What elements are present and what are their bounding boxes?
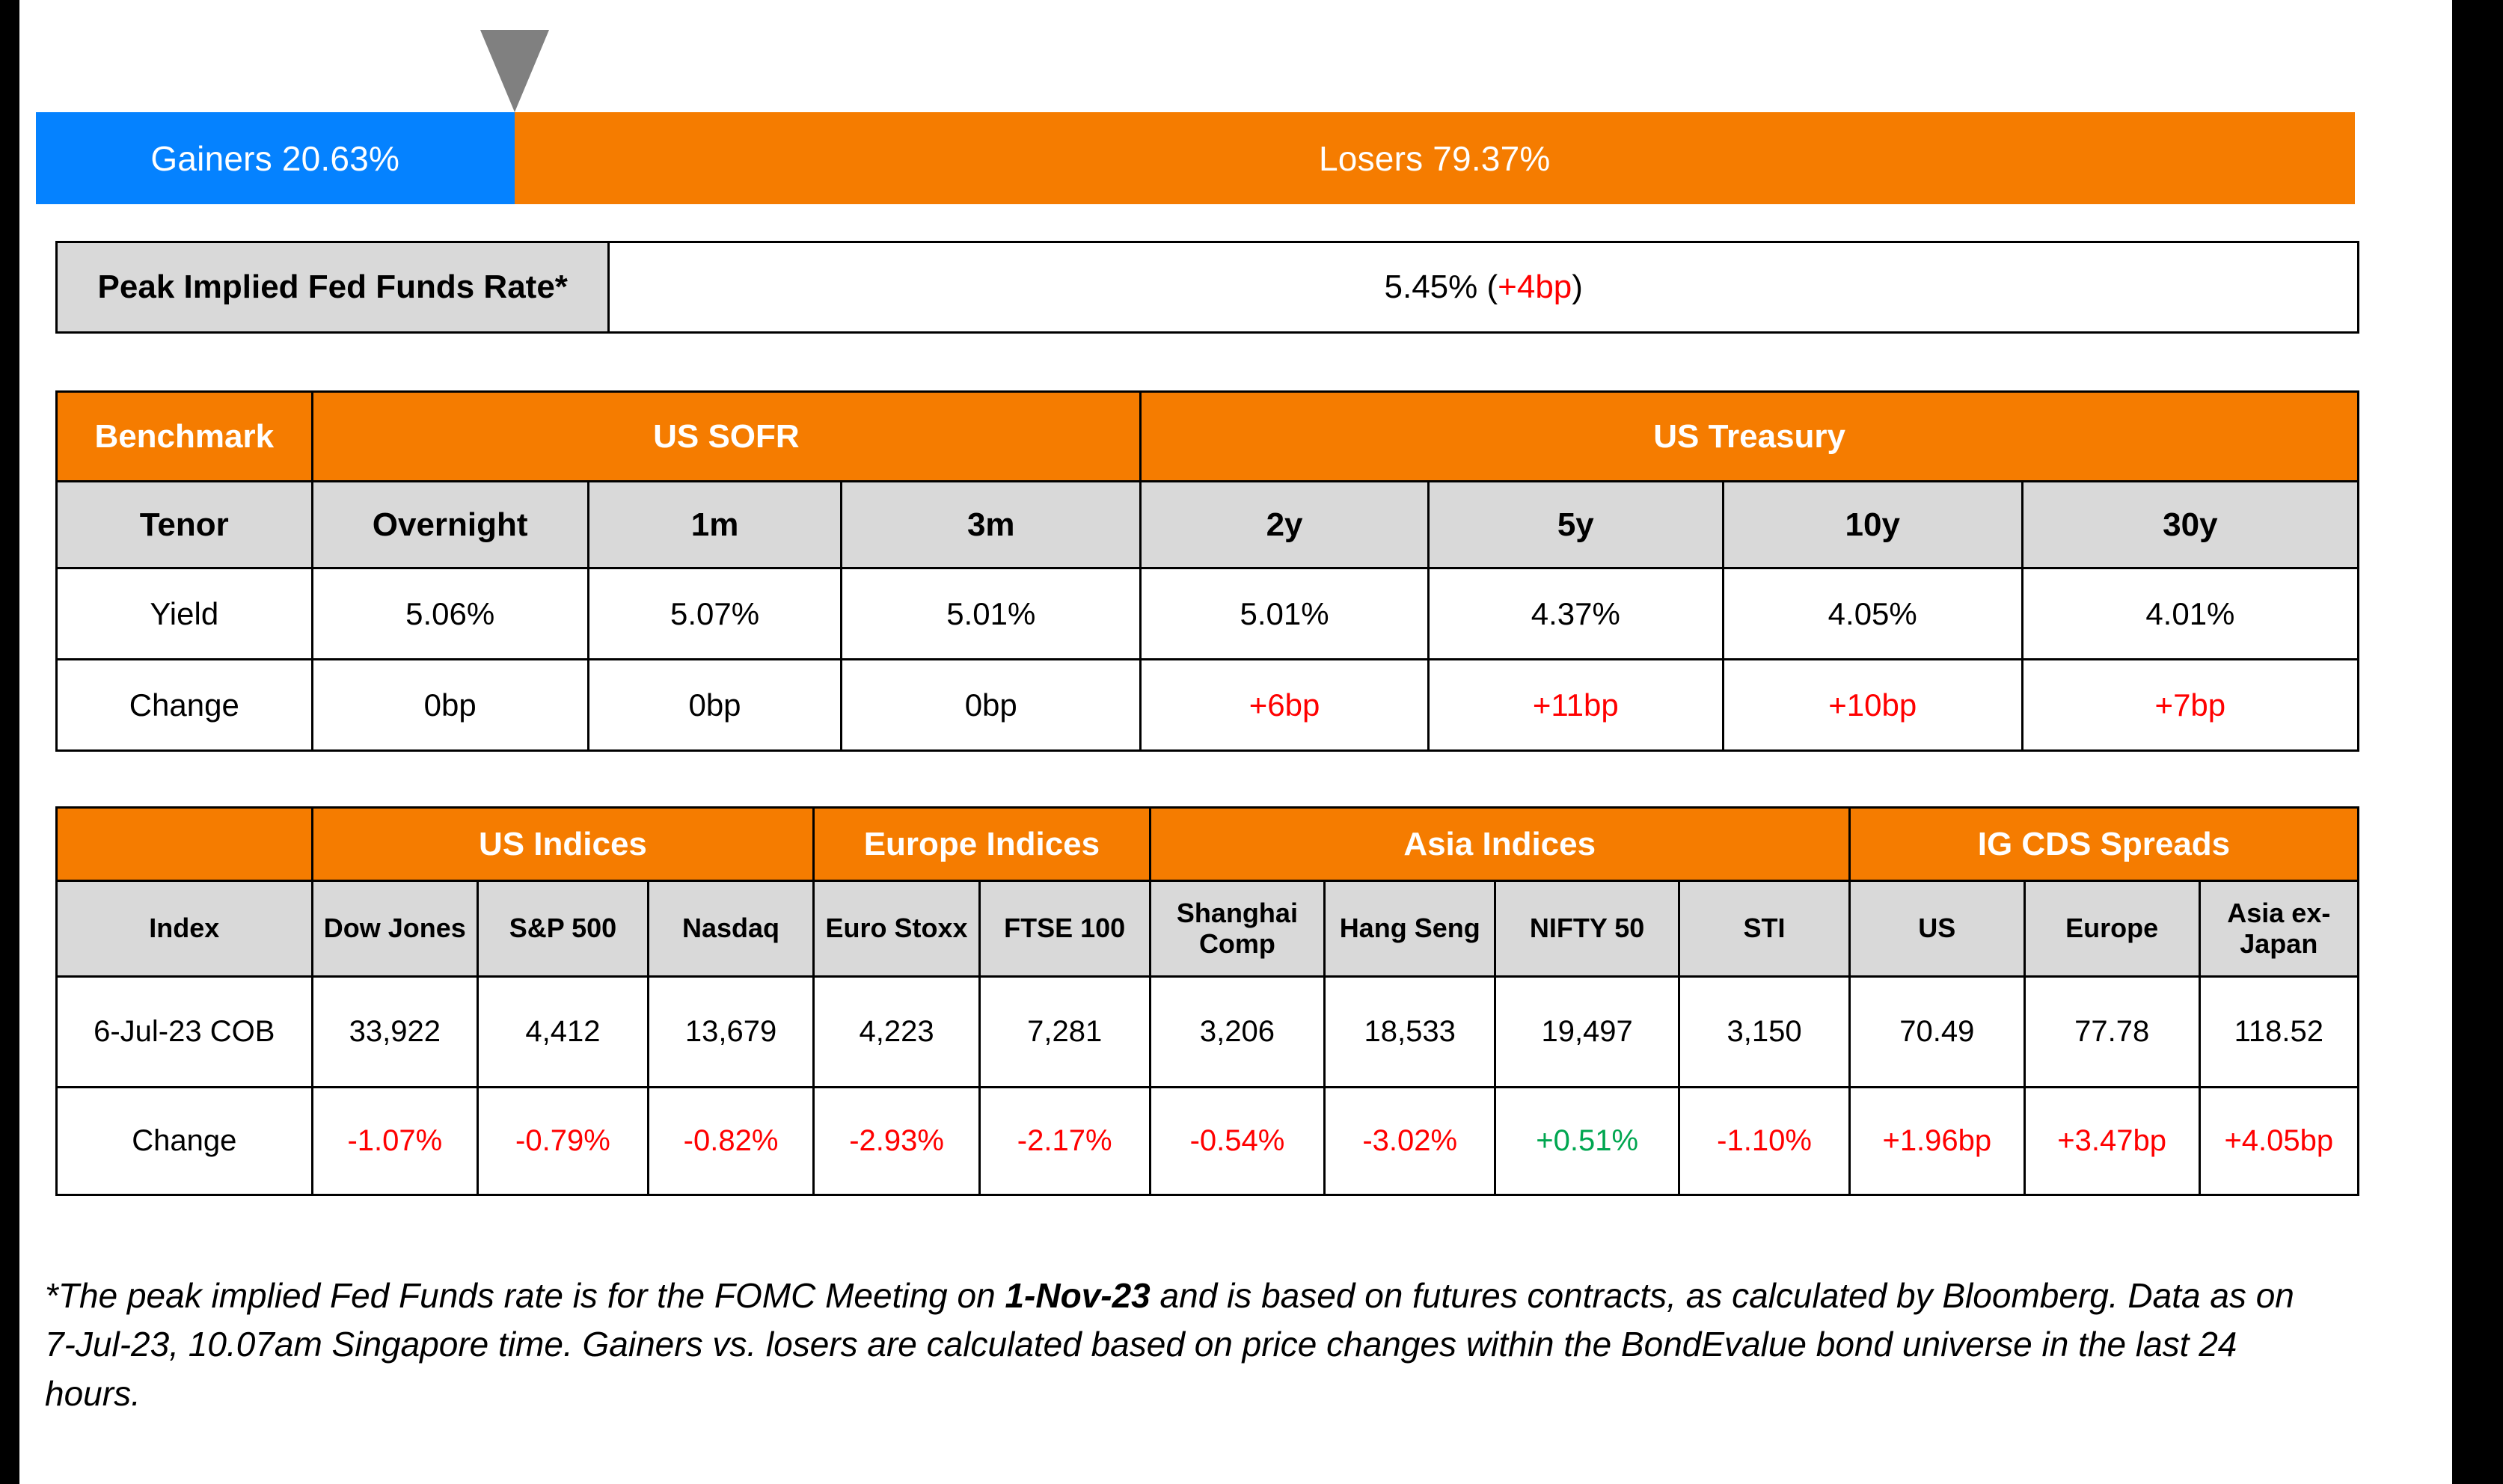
tenor-header-row: Tenor Overnight 1m 3m 2y 5y 10y 30y <box>57 482 2359 568</box>
tenor-10y: 10y <box>1723 482 2022 568</box>
right-edge-band <box>2452 0 2503 1484</box>
index-change-cds-us: +1.96bp <box>1849 1088 2024 1195</box>
index-value-cds-asia-ex-japan: 118.52 <box>2199 977 2358 1088</box>
yield-overnight: 5.06% <box>312 568 588 660</box>
yield-row-label: Yield <box>57 568 313 660</box>
yield-1m: 5.07% <box>588 568 841 660</box>
benchmark-change-row: Change 0bp 0bp 0bp +6bp +11bp +10bp +7bp <box>57 660 2359 751</box>
index-value-nasdaq: 13,679 <box>648 977 814 1088</box>
yield-30y: 4.01% <box>2022 568 2358 660</box>
gainers-label: Gainers 20.63% <box>150 138 399 179</box>
index-value-hang-seng: 18,533 <box>1325 977 1495 1088</box>
tenor-label: Tenor <box>57 482 313 568</box>
gainers-segment: Gainers 20.63% <box>36 112 515 204</box>
footnote-fomc-date: 1-Nov-23 <box>1005 1276 1150 1315</box>
index-change-row-label: Change <box>57 1088 313 1195</box>
indices-group-header-row: US Indices Europe Indices Asia Indices I… <box>57 808 2359 881</box>
peak-fed-funds-value-cell: 5.45% (+4bp) <box>609 242 2359 333</box>
change-1m: 0bp <box>588 660 841 751</box>
index-change-sti: -1.10% <box>1679 1088 1850 1195</box>
index-change-euro-stoxx: -2.93% <box>814 1088 980 1195</box>
index-value-row-label: 6-Jul-23 COB <box>57 977 313 1088</box>
index-change-ftse-100: -2.17% <box>979 1088 1150 1195</box>
change-30y: +7bp <box>2022 660 2358 751</box>
peak-fed-funds-value: 5.45% <box>1385 269 1478 305</box>
change-3m: 0bp <box>842 660 1141 751</box>
yield-10y: 4.05% <box>1723 568 2022 660</box>
index-row-label: Index <box>57 881 313 977</box>
index-value-row: 6-Jul-23 COB 33,922 4,412 13,679 4,223 7… <box>57 977 2359 1088</box>
index-value-ftse-100: 7,281 <box>979 977 1150 1088</box>
gainers-losers-bar: Gainers 20.63% Losers 79.37% <box>36 112 2355 204</box>
index-change-nifty-50: +0.51% <box>1495 1088 1679 1195</box>
footnote: *The peak implied Fed Funds rate is for … <box>45 1272 2334 1418</box>
index-change-row: Change -1.07% -0.79% -0.82% -2.93% -2.17… <box>57 1088 2359 1195</box>
indices-table: US Indices Europe Indices Asia Indices I… <box>55 806 2359 1196</box>
index-value-sp-500: 4,412 <box>478 977 649 1088</box>
peak-fed-funds-label: Peak Implied Fed Funds Rate* <box>57 242 609 333</box>
group-header-us-sofr: US SOFR <box>312 392 1141 482</box>
yield-2y: 5.01% <box>1141 568 1429 660</box>
left-edge-band <box>0 0 19 1484</box>
group-header-ig-cds-spreads: IG CDS Spreads <box>1849 808 2358 881</box>
index-value-cds-europe: 77.78 <box>2024 977 2199 1088</box>
index-name-nasdaq: Nasdaq <box>648 881 814 977</box>
peak-fed-funds-change: +4bp <box>1498 269 1572 305</box>
group-header-asia-indices: Asia Indices <box>1150 808 1849 881</box>
benchmark-rates-table: Benchmark US SOFR US Treasury Tenor Over… <box>55 390 2359 752</box>
tenor-2y: 2y <box>1141 482 1429 568</box>
index-name-row: Index Dow Jones S&P 500 Nasdaq Euro Stox… <box>57 881 2359 977</box>
dashboard-page: Gainers 20.63% Losers 79.37% Peak Implie… <box>19 0 2452 1484</box>
tenor-3m: 3m <box>842 482 1141 568</box>
index-change-shanghai-comp: -0.54% <box>1150 1088 1325 1195</box>
yield-row: Yield 5.06% 5.07% 5.01% 5.01% 4.37% 4.05… <box>57 568 2359 660</box>
index-change-dow-jones: -1.07% <box>312 1088 478 1195</box>
index-name-dow-jones: Dow Jones <box>312 881 478 977</box>
peak-fed-funds-paren-open: ( <box>1477 269 1498 305</box>
index-name-hang-seng: Hang Seng <box>1325 881 1495 977</box>
losers-segment: Losers 79.37% <box>515 112 2355 204</box>
benchmark-corner-label: Benchmark <box>57 392 313 482</box>
peak-fed-funds-paren-close: ) <box>1572 269 1583 305</box>
index-value-euro-stoxx: 4,223 <box>814 977 980 1088</box>
losers-label: Losers 79.37% <box>1319 138 1550 179</box>
index-value-shanghai-comp: 3,206 <box>1150 977 1325 1088</box>
index-change-sp-500: -0.79% <box>478 1088 649 1195</box>
change-2y: +6bp <box>1141 660 1429 751</box>
index-value-cds-us: 70.49 <box>1849 977 2024 1088</box>
tenor-5y: 5y <box>1428 482 1723 568</box>
tenor-overnight: Overnight <box>312 482 588 568</box>
peak-fed-funds-table: Peak Implied Fed Funds Rate* 5.45% (+4bp… <box>55 241 2359 334</box>
index-name-shanghai-comp: Shanghai Comp <box>1150 881 1325 977</box>
yield-5y: 4.37% <box>1428 568 1723 660</box>
benchmark-group-header-row: Benchmark US SOFR US Treasury <box>57 392 2359 482</box>
index-name-cds-asia-ex-japan: Asia ex-Japan <box>2199 881 2358 977</box>
index-name-nifty-50: NIFTY 50 <box>1495 881 1679 977</box>
index-name-euro-stoxx: Euro Stoxx <box>814 881 980 977</box>
tenor-30y: 30y <box>2022 482 2358 568</box>
index-change-cds-asia-ex-japan: +4.05bp <box>2199 1088 2358 1195</box>
index-change-hang-seng: -3.02% <box>1325 1088 1495 1195</box>
yield-3m: 5.01% <box>842 568 1141 660</box>
change-10y: +10bp <box>1723 660 2022 751</box>
index-name-cds-europe: Europe <box>2024 881 2199 977</box>
group-header-europe-indices: Europe Indices <box>814 808 1150 881</box>
group-header-us-treasury: US Treasury <box>1141 392 2359 482</box>
index-value-nifty-50: 19,497 <box>1495 977 1679 1088</box>
group-header-us-indices: US Indices <box>312 808 814 881</box>
tenor-1m: 1m <box>588 482 841 568</box>
change-overnight: 0bp <box>312 660 588 751</box>
split-marker-triangle-icon <box>480 30 549 112</box>
change-5y: +11bp <box>1428 660 1723 751</box>
index-change-nasdaq: -0.82% <box>648 1088 814 1195</box>
index-name-sti: STI <box>1679 881 1850 977</box>
index-value-dow-jones: 33,922 <box>312 977 478 1088</box>
index-name-sp-500: S&P 500 <box>478 881 649 977</box>
index-name-ftse-100: FTSE 100 <box>979 881 1150 977</box>
footnote-part-1: *The peak implied Fed Funds rate is for … <box>45 1276 1005 1315</box>
index-value-sti: 3,150 <box>1679 977 1850 1088</box>
index-name-cds-us: US <box>1849 881 2024 977</box>
indices-corner-blank <box>57 808 313 881</box>
index-change-cds-europe: +3.47bp <box>2024 1088 2199 1195</box>
table-row: Peak Implied Fed Funds Rate* 5.45% (+4bp… <box>57 242 2359 333</box>
benchmark-change-row-label: Change <box>57 660 313 751</box>
